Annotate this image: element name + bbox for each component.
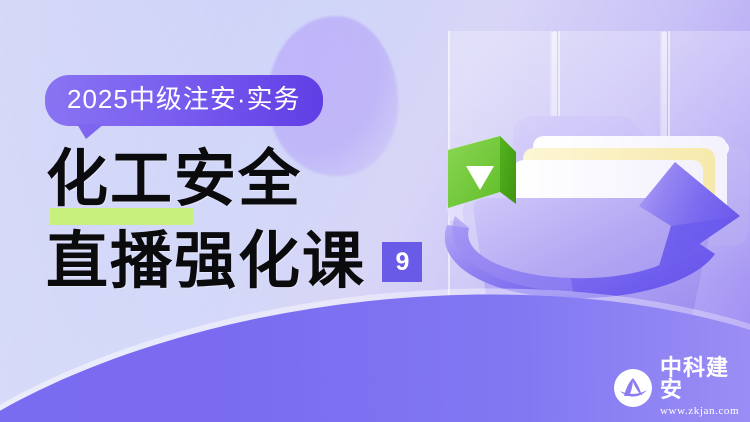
headline-block: 化工安全 直播强化课 9	[46, 148, 476, 302]
brand-name-cn: 中科建安	[660, 358, 750, 402]
episode-number-badge: 9	[382, 242, 422, 282]
brand-logo: 中科建安 www.zkjan.com	[613, 358, 750, 417]
headline-line-1-row: 化工安全	[46, 148, 476, 226]
brand-logo-text: 中科建安 www.zkjan.com	[660, 358, 750, 417]
headline-line-1: 化工安全	[46, 148, 302, 210]
course-badge: 2025中级注安·实务	[45, 75, 323, 126]
headline-line-2: 直播强化课	[46, 230, 366, 292]
headline-line-2-row: 直播强化课 9	[46, 230, 476, 302]
course-badge-label: 2025中级注安·实务	[45, 75, 323, 126]
badge-tail	[77, 124, 104, 139]
zkjan-circle-logo-icon	[613, 368, 653, 408]
brand-url: www.zkjan.com	[660, 406, 750, 417]
course-banner: 2025中级注安·实务 化工安全 直播强化课 9 中科建安 www.zkjan.…	[0, 0, 750, 422]
